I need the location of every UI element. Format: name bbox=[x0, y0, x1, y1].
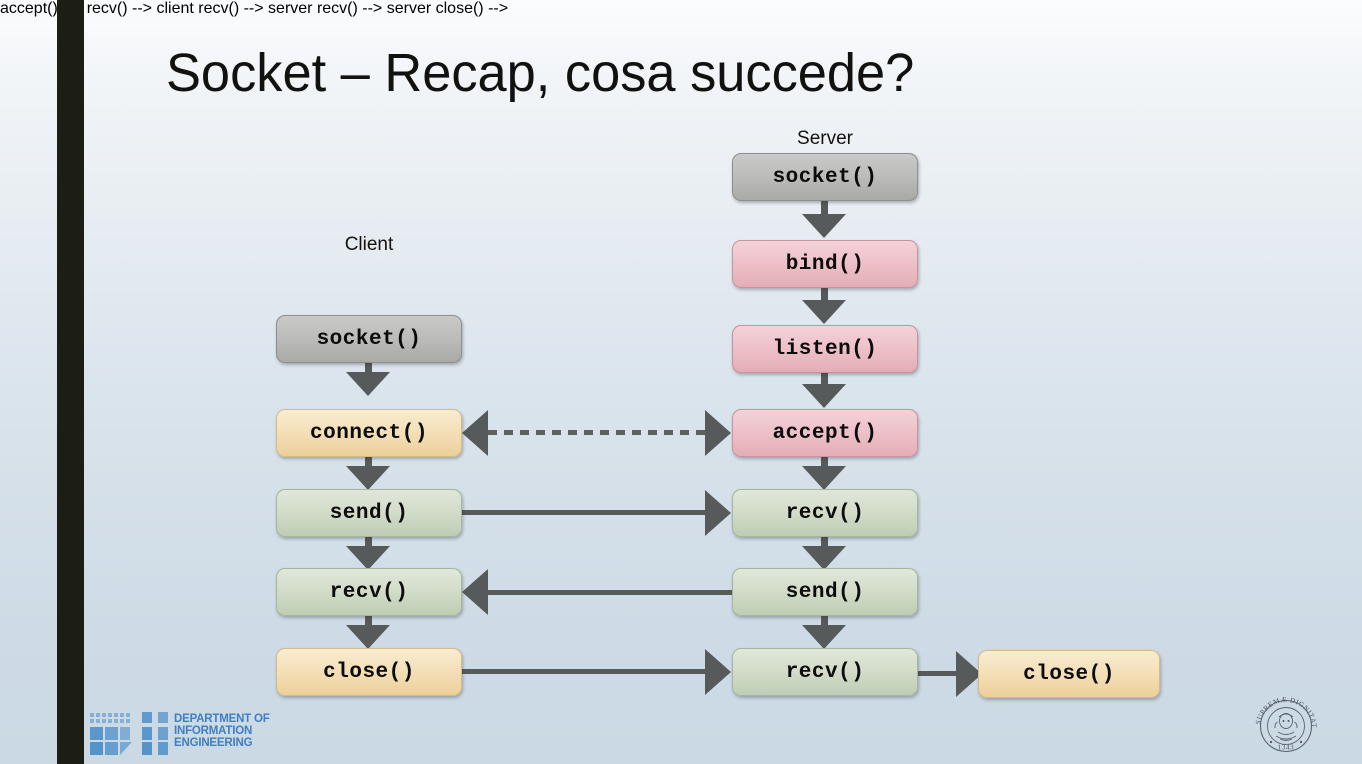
seal-motto-text: IN SUPREMÆ DIGNITATIS bbox=[1252, 692, 1318, 729]
server-node-bind[interactable]: bind() bbox=[732, 240, 918, 288]
close-recv-arrowhead bbox=[705, 649, 731, 695]
server-send-client-recv-line bbox=[485, 590, 735, 595]
server-connector-head-3 bbox=[802, 384, 846, 408]
server-send-client-recv-arrowhead bbox=[462, 569, 488, 615]
server-node-listen[interactable]: listen() bbox=[732, 325, 918, 373]
client-node-send[interactable]: send() bbox=[276, 489, 462, 537]
server-node-send-label: send() bbox=[786, 581, 865, 604]
server-node-accept-label: accept() bbox=[773, 422, 878, 445]
connect-accept-arrowhead-right bbox=[705, 410, 731, 456]
server-connector-head-1 bbox=[802, 214, 846, 238]
server-connector-head-6 bbox=[802, 625, 846, 649]
server-node-listen-label: listen() bbox=[773, 338, 878, 361]
server-column-label: Server bbox=[732, 128, 918, 150]
dii-logo-text: DEPARTMENT OF INFORMATION ENGINEERING bbox=[174, 714, 270, 749]
seal-year-text: 1343 bbox=[1278, 744, 1294, 752]
dii-logo-line-3: ENGINEERING bbox=[174, 738, 270, 750]
client-connector-head-2 bbox=[346, 466, 390, 490]
connect-accept-arrowhead-left bbox=[462, 410, 488, 456]
server-node-recv-1-label: recv() bbox=[786, 502, 865, 525]
server-node-bind-label: bind() bbox=[786, 253, 865, 276]
server-node-send[interactable]: send() bbox=[732, 568, 918, 616]
server-node-recv-2[interactable]: recv() bbox=[732, 648, 918, 696]
server-node-recv-1[interactable]: recv() bbox=[732, 489, 918, 537]
client-connector-head-4 bbox=[346, 625, 390, 649]
client-node-socket[interactable]: socket() bbox=[276, 315, 462, 363]
client-node-recv-label: recv() bbox=[330, 581, 409, 604]
send-recv-arrowhead bbox=[705, 490, 731, 536]
server-node-socket[interactable]: socket() bbox=[732, 153, 918, 201]
client-node-socket-label: socket() bbox=[317, 328, 422, 351]
server-connector-head-5 bbox=[802, 546, 846, 570]
client-node-connect[interactable]: connect() bbox=[276, 409, 462, 457]
server-node-socket-label: socket() bbox=[773, 166, 878, 189]
server-connector-head-2 bbox=[802, 300, 846, 324]
server-connector-head-4 bbox=[802, 466, 846, 490]
client-node-recv[interactable]: recv() bbox=[276, 568, 462, 616]
slide-canvas: Socket – Recap, cosa succede? Client Ser… bbox=[0, 0, 1362, 764]
client-column-label: Client bbox=[276, 234, 462, 256]
university-seal: IN SUPREMÆ DIGNITATIS 1343 bbox=[1252, 692, 1320, 760]
client-node-connect-label: connect() bbox=[310, 422, 428, 445]
client-node-close-label: close() bbox=[323, 661, 415, 684]
server-node-accept[interactable]: accept() bbox=[732, 409, 918, 457]
page-title: Socket – Recap, cosa succede? bbox=[166, 42, 914, 104]
client-node-send-label: send() bbox=[330, 502, 409, 525]
left-accent-bar bbox=[57, 0, 84, 764]
client-node-close[interactable]: close() bbox=[276, 648, 462, 696]
server-node-close-label: close() bbox=[1023, 663, 1115, 686]
client-connector-head-3 bbox=[346, 546, 390, 570]
server-node-close[interactable]: close() bbox=[978, 650, 1160, 698]
server-node-recv-2-label: recv() bbox=[786, 661, 865, 684]
send-recv-line bbox=[461, 510, 711, 515]
connect-accept-dashed-line bbox=[488, 430, 706, 435]
close-recv-line bbox=[461, 669, 711, 674]
client-connector-head-1 bbox=[346, 372, 390, 396]
dii-logo-line-2: INFORMATION bbox=[174, 726, 270, 738]
